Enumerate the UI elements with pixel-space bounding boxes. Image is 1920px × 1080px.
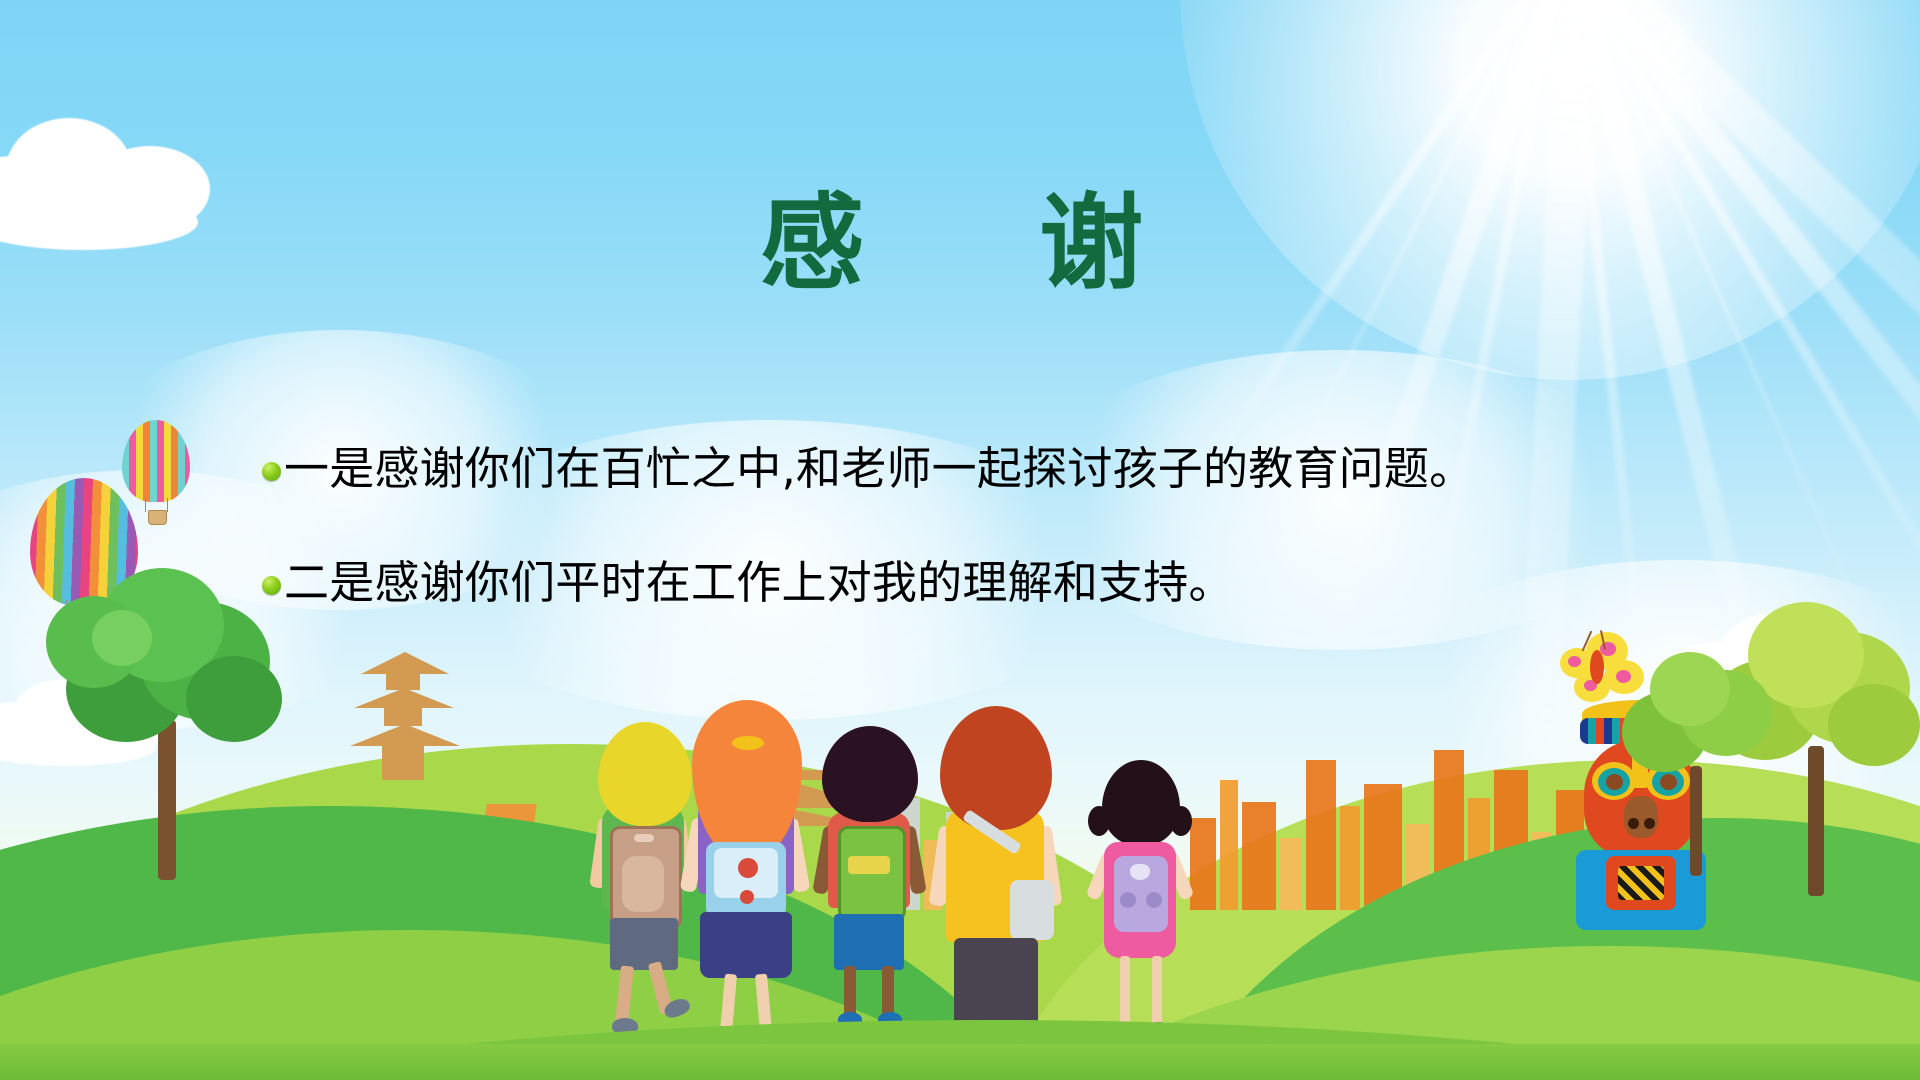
child-pigtails-pink-dress xyxy=(1088,760,1192,1070)
green-sphere-bullet-icon xyxy=(262,462,281,481)
hill-background xyxy=(980,760,1920,1080)
page-title: 感 谢 xyxy=(0,186,1920,300)
city-skyline-icon xyxy=(1180,690,1800,910)
list-item: 一是感谢你们在百忙之中,和老师一起探讨孩子的教育问题。 xyxy=(262,440,1682,498)
child-blond-green-shirt xyxy=(588,722,698,1052)
bullet-text: 一是感谢你们在百忙之中,和老师一起探讨孩子的教育问题。 xyxy=(284,440,1474,498)
child-red-hair-yellow-shirt xyxy=(932,706,1062,1080)
hill-front xyxy=(0,1020,1920,1080)
pagoda-icon xyxy=(350,652,460,782)
hill-foreground xyxy=(900,946,1920,1080)
hill-background xyxy=(0,744,1320,1080)
hill-midground xyxy=(0,806,1080,1080)
tree-icon xyxy=(1616,646,1776,876)
totem-mask-icon xyxy=(1566,700,1716,930)
tree-icon xyxy=(40,540,300,880)
child-orange-hair-blue-dress xyxy=(684,700,810,1060)
bullet-text: 二是感谢你们平时在工作上对我的理解和支持。 xyxy=(284,554,1234,612)
presentation-slide: 感 谢 一是感谢你们在百忙之中,和老师一起探讨孩子的教育问题。 二是感谢你们平时… xyxy=(0,0,1920,1080)
tree-icon xyxy=(1700,580,1920,900)
city-skyline-icon xyxy=(860,740,1200,910)
bullet-list: 一是感谢你们在百忙之中,和老师一起探讨孩子的教育问题。 二是感谢你们平时在工作上… xyxy=(262,440,1682,667)
child-dark-hair-green-backpack xyxy=(816,726,922,1056)
grass-strip xyxy=(0,1044,1920,1080)
list-item: 二是感谢你们平时在工作上对我的理解和支持。 xyxy=(262,554,1682,612)
tent-icon xyxy=(460,790,680,900)
pavilion-icon xyxy=(692,766,882,876)
hill-foreground xyxy=(0,930,1120,1080)
hill-midground xyxy=(1140,818,1920,1080)
green-sphere-bullet-icon xyxy=(262,576,281,595)
